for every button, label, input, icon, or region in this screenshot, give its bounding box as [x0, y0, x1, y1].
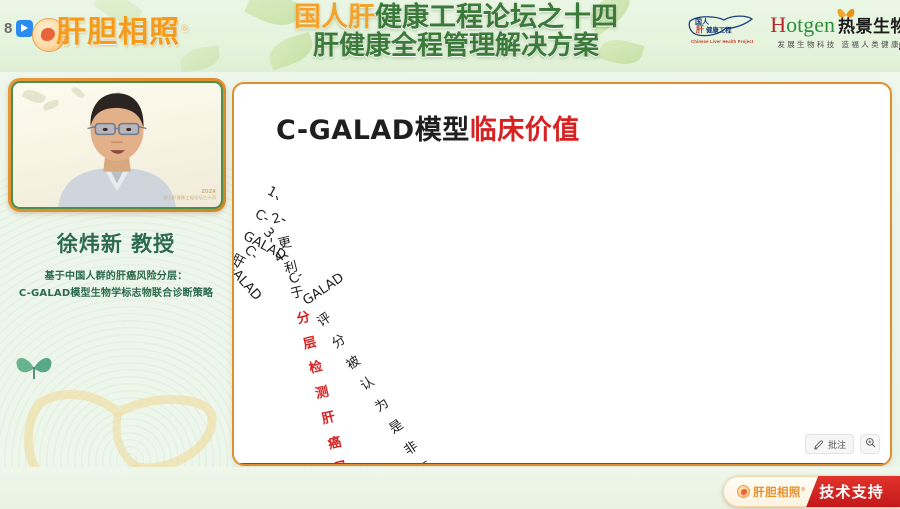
- brand-seal-icon: [737, 485, 750, 498]
- speaker-video-panel[interactable]: 2024 国人肝健康工程论坛之十四: [8, 78, 226, 212]
- page-footer: 肝胆相照® 技术支持: [0, 467, 900, 509]
- butterfly-decoration: [14, 352, 54, 382]
- slide-paragraph: 2、更利于分层检测肝癌风险人群，实现肝癌风险人群更加精准化的监测管理。: [269, 204, 286, 216]
- support-brand-text: 肝胆相照: [753, 485, 801, 499]
- slide-card[interactable]: C-GALAD模型临床价值 1、C-GALAD肝癌诊断模型基于性别、年龄和肝癌三…: [232, 82, 892, 466]
- slide-title: C-GALAD模型临床价值: [276, 108, 580, 147]
- logo-project-en-label: Chinese Liver Health Project: [686, 39, 758, 44]
- svg-text:肝: 肝: [696, 25, 704, 34]
- pen-icon: [813, 439, 824, 450]
- annotation-toolbar: 批注: [805, 434, 880, 454]
- speaker-video-feed[interactable]: 2024 国人肝健康工程论坛之十四: [11, 81, 223, 209]
- brand-name: 肝胆相照®: [56, 7, 190, 51]
- magnifier-icon: [865, 435, 876, 453]
- logo-hotgen-rest: otgen: [786, 12, 835, 37]
- logo-chinese-liver-health-project: 国人 肝 健康工程 Chinese Liver Health Project: [686, 12, 758, 44]
- annotate-button[interactable]: 批注: [805, 434, 854, 454]
- sponsor-logos: 国人 肝 健康工程 Chinese Liver Health Project H…: [686, 12, 900, 50]
- forum-title-line1: 国人肝健康工程论坛之十四: [276, 4, 636, 32]
- support-brand-trademark: ®: [801, 487, 806, 493]
- logo-hotgen: Hotgen 热景生物 发展生物科技 造福人类健康: [770, 12, 900, 50]
- forum-title-line2: 肝健康全程管理解决方案: [276, 32, 636, 61]
- cut-digit-label: 8: [4, 21, 12, 36]
- logo-hotgen-wordmark: Hotgen: [770, 14, 835, 36]
- butterfly-icon: [836, 5, 856, 23]
- slide-title-plain: C-GALAD模型: [276, 115, 470, 146]
- svg-text:健康工程: 健康工程: [706, 25, 732, 34]
- slide-body: 1、C-GALAD肝癌诊断模型基于性别、年龄和肝癌三项等定量检测进行综合量化评分…: [270, 184, 862, 264]
- support-label: 技术支持: [806, 476, 900, 507]
- technical-support-badge[interactable]: 肝胆相照® 技术支持: [723, 476, 900, 507]
- forum-title-part-b: 健康工程论坛: [375, 2, 537, 33]
- annotate-button-label: 批注: [828, 438, 846, 451]
- logo-hotgen-tagline: 发展生物科技 造福人类健康: [770, 39, 900, 50]
- text-run-0: 4、C-GALAD评分被认为是非酒精性脂肪性肝炎(NASH，一种慢性肝病)患者早…: [272, 242, 892, 466]
- speaker-info: 徐炜新 教授 基于中国人群的肝癌风险分层： C-GALAD模型生物学标志物联合诊…: [0, 228, 232, 302]
- text-run-0: 1、C-GALAD肝癌诊断模型基于性别、年龄和肝癌三项等: [232, 184, 291, 466]
- slide-paragraph: 1、C-GALAD肝癌诊断模型基于性别、年龄和肝癌三项等定量检测进行综合量化评分…: [269, 179, 294, 199]
- video-watermark-text: 国人肝健康工程论坛之十四: [163, 196, 216, 201]
- logo-hotgen-initial: H: [770, 12, 786, 37]
- video-watermark: 2024 国人肝健康工程论坛之十四: [163, 189, 216, 201]
- forum-title-part-c: 之十四: [537, 2, 618, 33]
- speaker-name: 徐炜新 教授: [0, 228, 232, 258]
- speaker-topic-line2: C-GALAD模型生物学标志物联合诊断策略: [0, 286, 232, 303]
- forum-title: 国人肝健康工程论坛之十四 肝健康全程管理解决方案: [276, 4, 636, 61]
- speaker-topic: 基于中国人群的肝癌风险分层： C-GALAD模型生物学标志物联合诊断策略: [0, 269, 232, 302]
- brand-trademark: ®: [180, 24, 190, 34]
- webinar-viewer: 8 肝胆相照® 国人肝健康工程论坛之十四 肝健康全程管理解决方案: [0, 0, 900, 509]
- brand-name-text: 肝胆相照: [56, 15, 180, 50]
- play-icon[interactable]: [16, 20, 33, 37]
- speaker-topic-line1: 基于中国人群的肝癌风险分层：: [0, 269, 232, 286]
- zoom-button[interactable]: [860, 434, 880, 454]
- support-brand-label: 肝胆相照®: [753, 484, 806, 500]
- slide-title-accent: 临床价值: [470, 115, 580, 146]
- page-header: 8 肝胆相照® 国人肝健康工程论坛之十四 肝健康全程管理解决方案: [0, 0, 900, 72]
- support-brand: 肝胆相照®: [723, 476, 818, 507]
- forum-title-part-a: 国人肝: [294, 2, 375, 33]
